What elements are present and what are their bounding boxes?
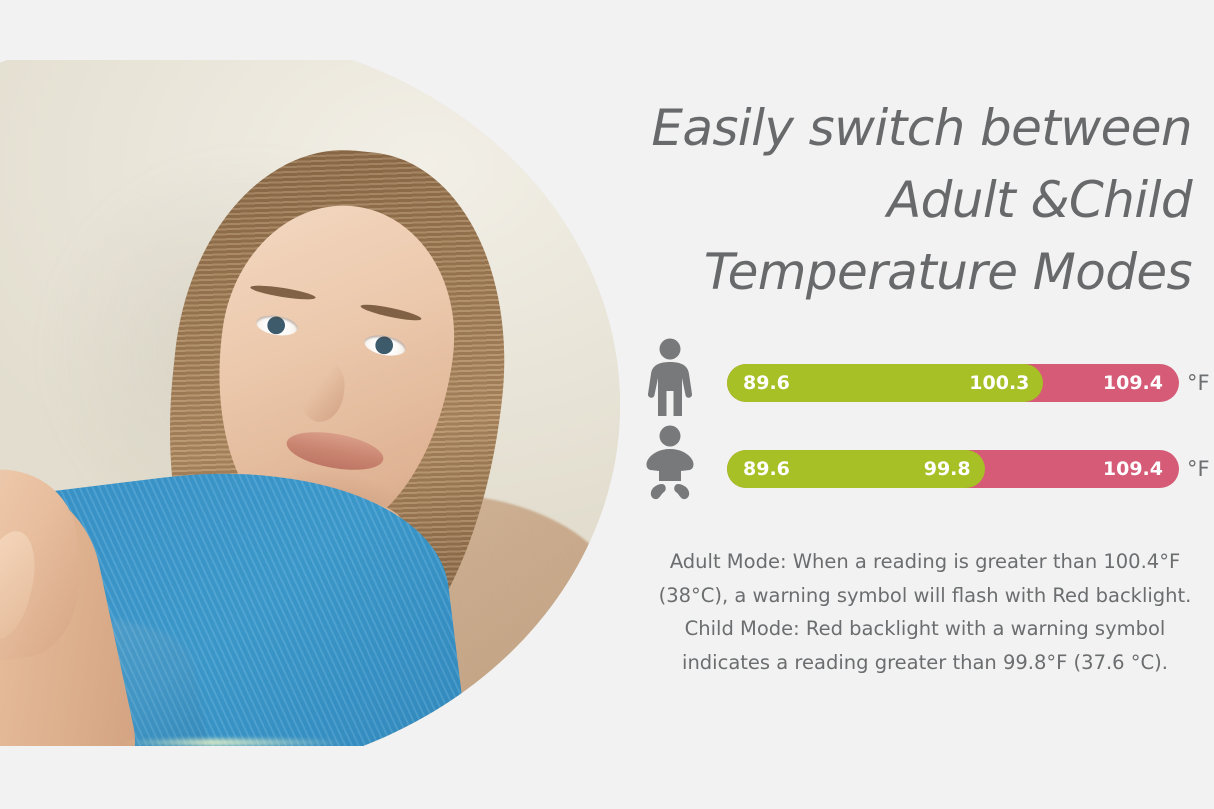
- product-photo: FOR A ∟ 100.6 °F: [0, 60, 620, 746]
- child-range-bar: 89.6 99.8 109.4: [727, 450, 1179, 488]
- adult-normal-segment: 89.6 100.3: [727, 364, 1043, 402]
- adult-min-value: 89.6: [743, 364, 790, 402]
- page-title: Easily switch between Adult &Child Tempe…: [620, 92, 1192, 308]
- page-title-line-2: Adult &Child: [620, 164, 1192, 236]
- mode-description-text: Adult Mode: When a reading is greater th…: [650, 545, 1200, 679]
- note-line-3: Child Mode: Red backlight with a warning…: [650, 612, 1200, 646]
- adult-max-value: 109.4: [1103, 364, 1163, 402]
- note-line-4: indicates a reading greater than 99.8°F …: [650, 646, 1200, 680]
- page-title-line-1: Easily switch between: [620, 92, 1192, 164]
- note-line-2: (38°C), a warning symbol will flash with…: [650, 579, 1200, 613]
- photo-bottom-highlight: [120, 739, 350, 746]
- range-row-adult: 89.6 100.3 109.4 °F: [642, 338, 1214, 424]
- child-threshold-value: 99.8: [924, 450, 971, 488]
- child-max-value: 109.4: [1103, 450, 1163, 488]
- baby-person-icon: [642, 424, 698, 502]
- adult-unit-label: °F: [1187, 364, 1210, 402]
- adult-threshold-value: 100.3: [969, 364, 1029, 402]
- temperature-range-chart: 89.6 100.3 109.4 °F 89.6: [642, 338, 1214, 510]
- child-normal-segment: 89.6 99.8: [727, 450, 985, 488]
- adult-range-bar: 89.6 100.3 109.4: [727, 364, 1179, 402]
- child-unit-label: °F: [1187, 450, 1210, 488]
- adult-person-icon: [642, 338, 698, 416]
- photo-circular-mask: FOR A ∟ 100.6 °F: [0, 60, 620, 746]
- page-title-line-3: Temperature Modes: [620, 236, 1192, 308]
- content-panel: Easily switch between Adult &Child Tempe…: [620, 0, 1214, 809]
- note-line-1: Adult Mode: When a reading is greater th…: [650, 545, 1200, 579]
- range-row-child: 89.6 99.8 109.4 °F: [642, 424, 1214, 510]
- child-min-value: 89.6: [743, 450, 790, 488]
